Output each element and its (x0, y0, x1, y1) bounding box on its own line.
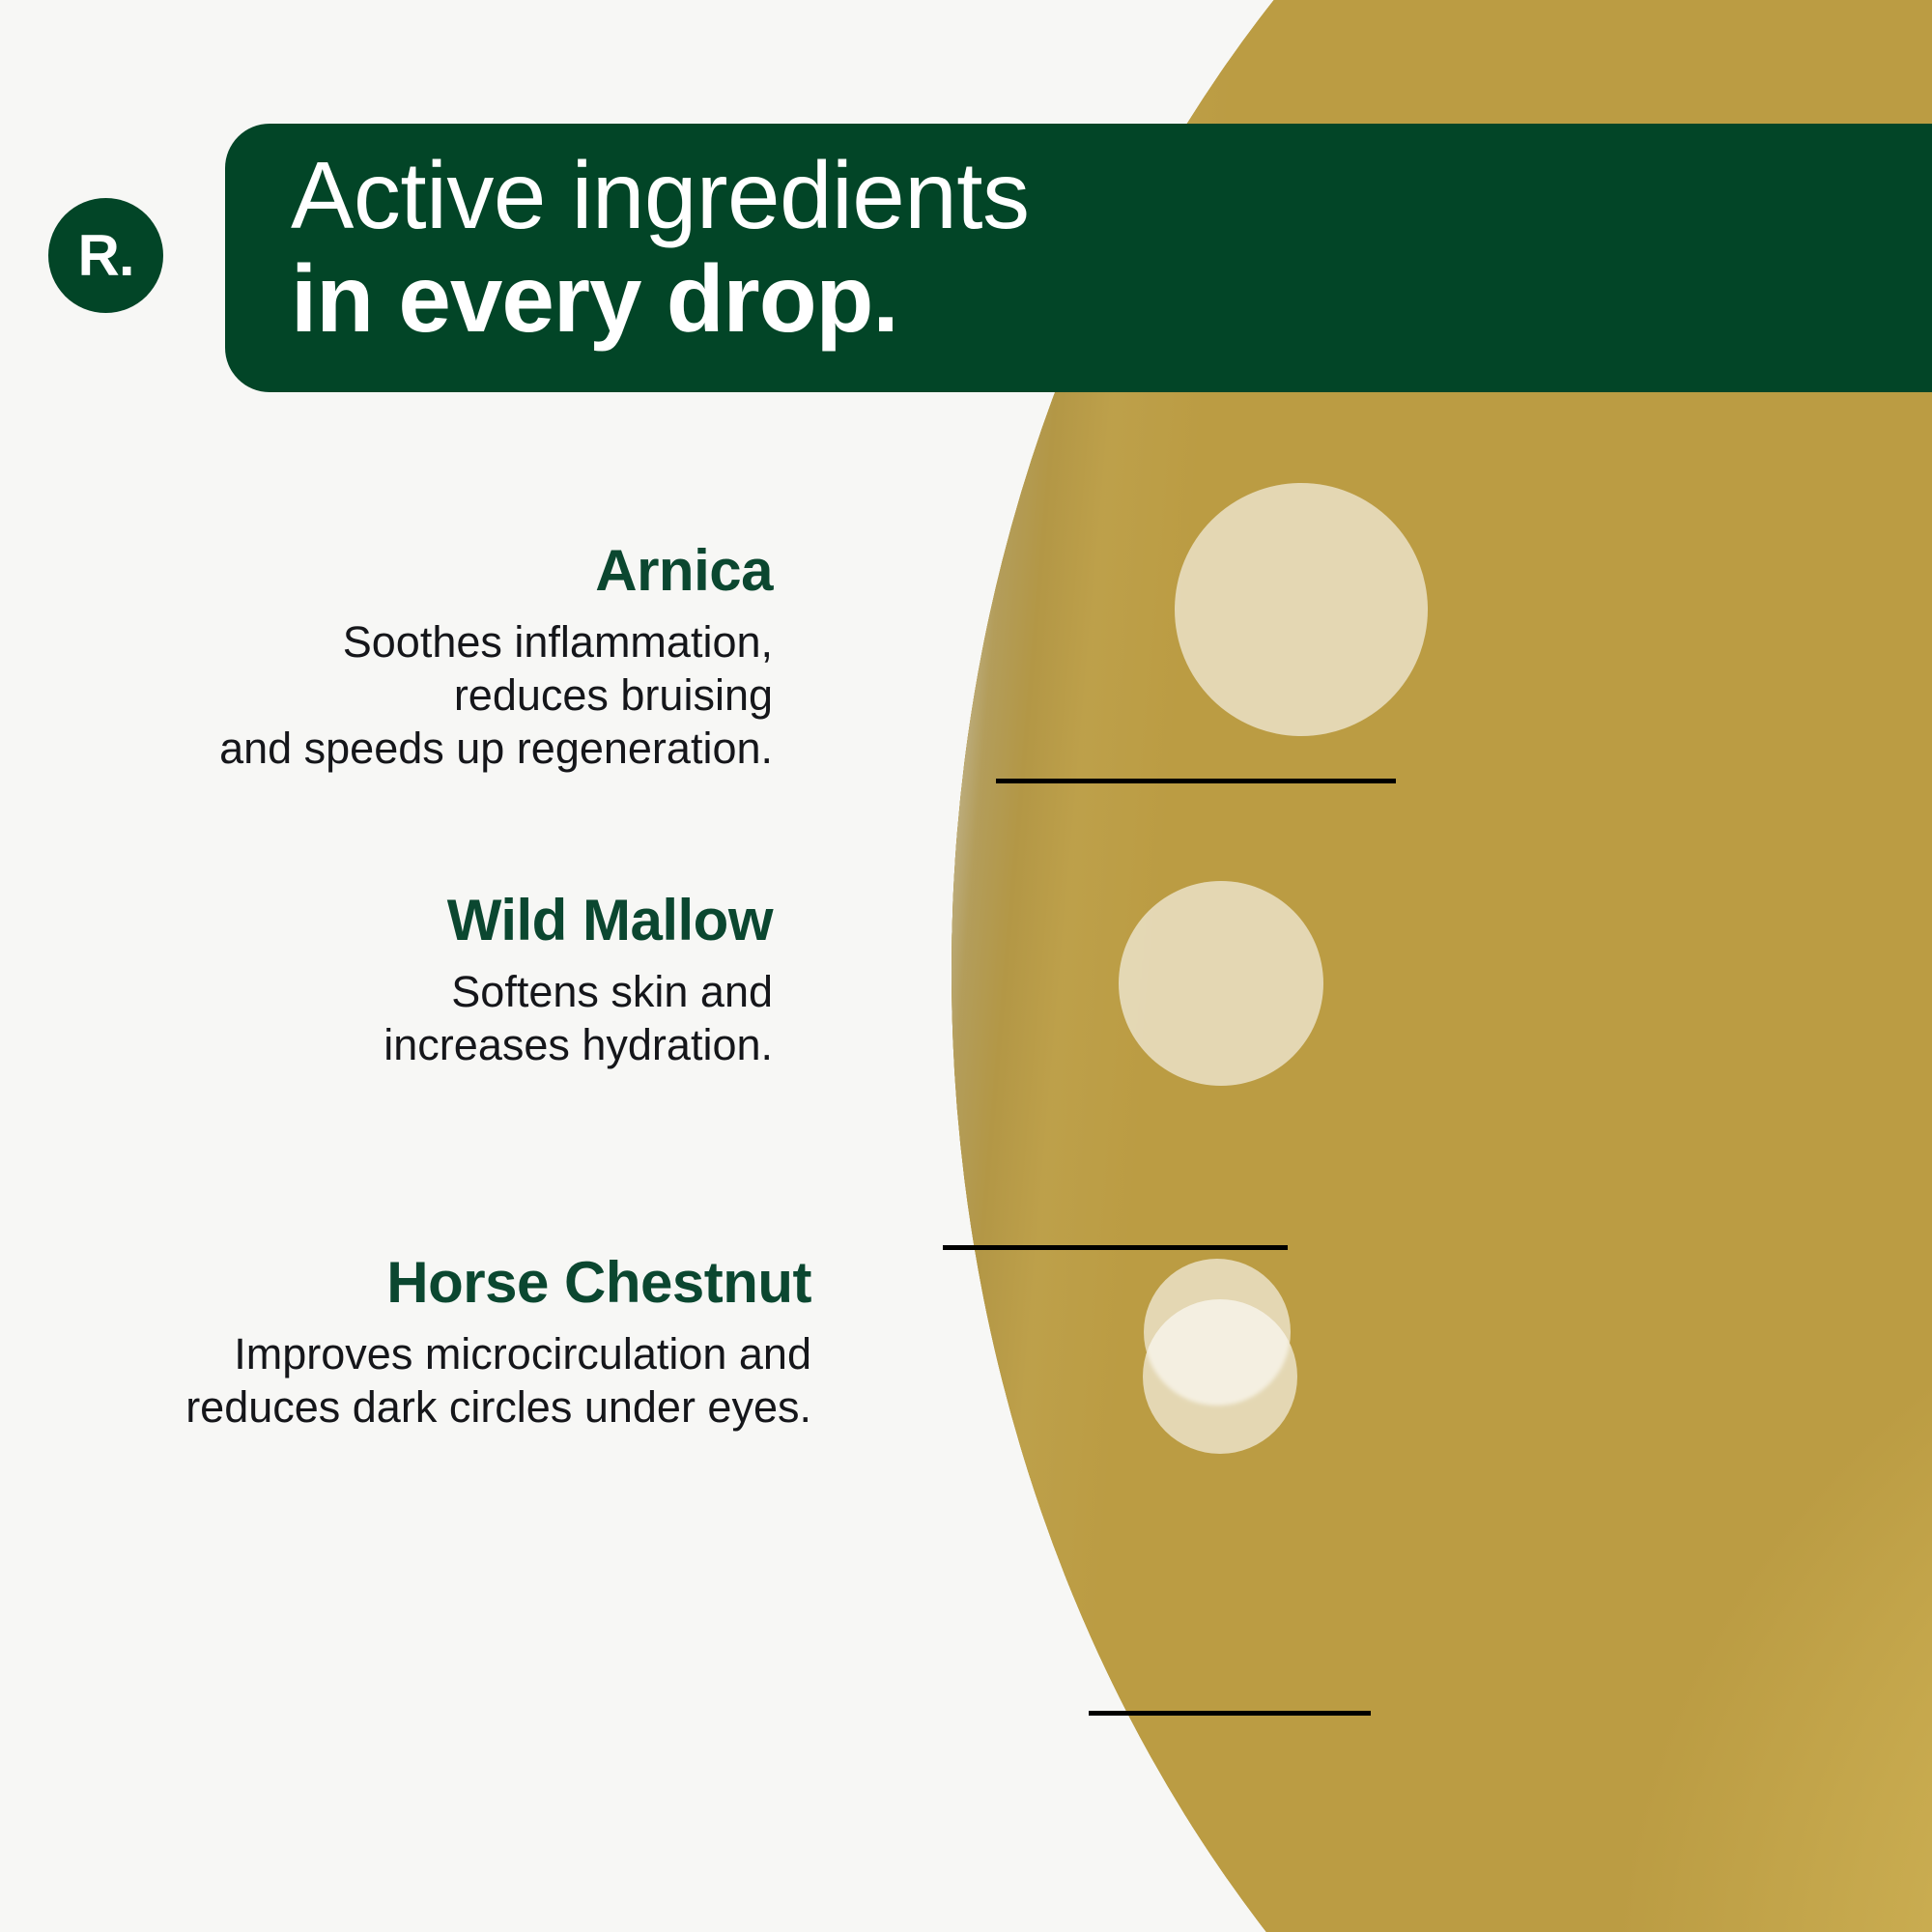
header-banner: Active ingredients in every drop. (225, 124, 1932, 392)
decor-circle-1 (1175, 483, 1428, 736)
ingredient-title-wild-mallow: Wild Mallow (116, 889, 773, 952)
leader-line-arnica (996, 779, 1396, 783)
header-title-line-2: in every drop. (291, 246, 1932, 353)
brand-logo-text: R. (78, 222, 134, 289)
ingredient-description-wild-mallow: Softens skin and increases hydration. (116, 966, 773, 1072)
leader-line-wild-mallow (943, 1245, 1288, 1250)
ingredient-title-arnica: Arnica (116, 539, 773, 603)
header-title-line-1: Active ingredients (291, 145, 1932, 246)
ingredient-description-arnica: Soothes inflammation, reduces bruising a… (116, 616, 773, 776)
ingredient-block-arnica: Arnica Soothes inflammation, reduces bru… (116, 539, 773, 776)
ingredient-block-wild-mallow: Wild Mallow Softens skin and increases h… (116, 889, 773, 1072)
leader-line-horse-chestnut (1089, 1711, 1371, 1716)
decor-circle-4 (1143, 1299, 1297, 1454)
ingredient-description-horse-chestnut: Improves microcirculation and reduces da… (77, 1328, 811, 1435)
decor-circle-2 (1119, 881, 1323, 1086)
ingredient-title-horse-chestnut: Horse Chestnut (77, 1251, 811, 1315)
ingredients-infographic: R. Active ingredients in every drop. Arn… (0, 0, 1932, 1932)
brand-logo: R. (48, 198, 163, 313)
ingredient-block-horse-chestnut: Horse Chestnut Improves microcirculation… (77, 1251, 811, 1435)
